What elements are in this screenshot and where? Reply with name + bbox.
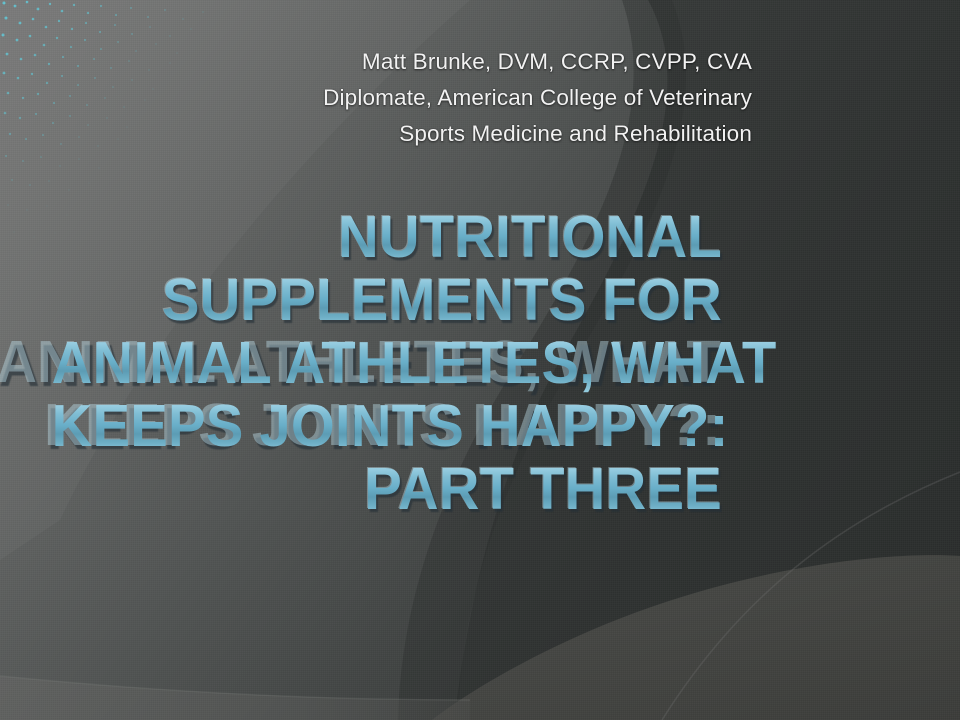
- subtitle-line-1: Matt Brunke, DVM, CCRP, CVPP, CVA: [190, 44, 752, 80]
- title-line-1: NUTRITIONAL NUTRITIONAL NUTRITIONAL: [52, 206, 722, 269]
- slide-title: NUTRITIONAL NUTRITIONAL NUTRITIONAL SUPP…: [52, 206, 722, 521]
- slide-subtitle: Matt Brunke, DVM, CCRP, CVPP, CVA Diplom…: [190, 44, 752, 152]
- presentation-slide: Matt Brunke, DVM, CCRP, CVPP, CVA Diplom…: [0, 0, 960, 720]
- subtitle-line-2: Diplomate, American College of Veterinar…: [190, 80, 752, 116]
- title-line-2-text: SUPPLEMENTS FOR: [162, 269, 722, 332]
- title-line-5-text: PART THREE: [364, 458, 722, 521]
- title-line-3-text: ANIMAL ATHLETES, WHAT: [52, 332, 777, 395]
- subtitle-line-3: Sports Medicine and Rehabilitation: [190, 116, 752, 152]
- title-line-4: KEEPS JOINTS HAPPY?: KEEPS JOINTS HAPPY?…: [52, 395, 722, 458]
- title-line-3: ANIMAL ATHLETES, WHAT ANIMAL ATHLETES, W…: [52, 332, 722, 395]
- title-line-4-text: KEEPS JOINTS HAPPY?:: [52, 395, 729, 458]
- title-line-1-text: NUTRITIONAL: [338, 206, 722, 269]
- title-line-5: PART THREE PART THREE PART THREE: [52, 458, 722, 521]
- title-line-2: SUPPLEMENTS FOR SUPPLEMENTS FOR SUPPLEME…: [52, 269, 722, 332]
